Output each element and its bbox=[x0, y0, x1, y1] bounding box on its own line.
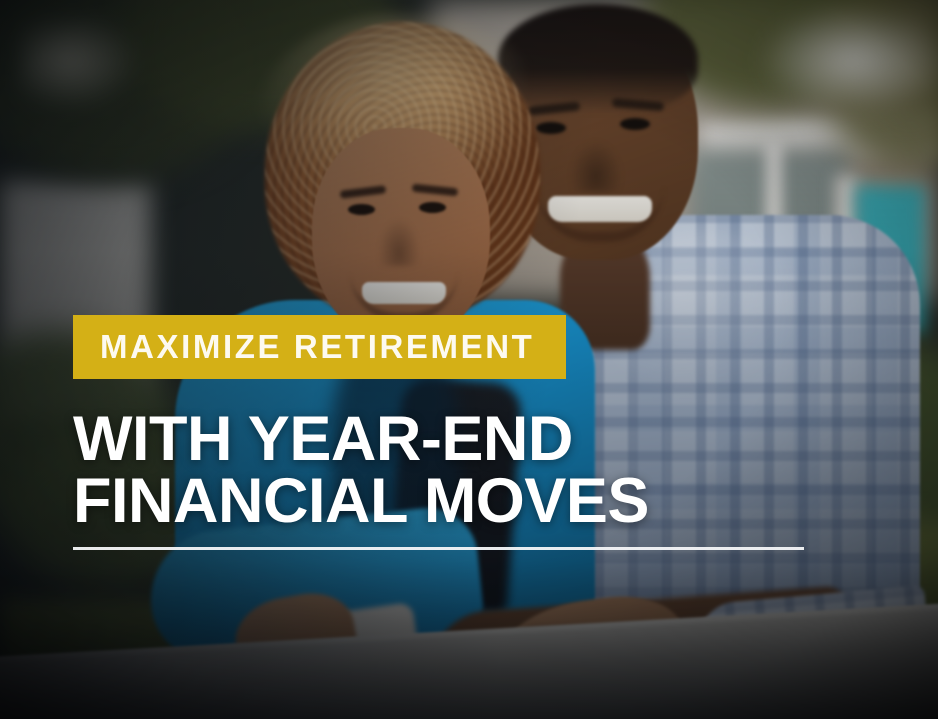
headline-line-2: FINANCIAL MOVES bbox=[73, 470, 865, 532]
page-title: WITH YEAR-END FINANCIAL MOVES bbox=[73, 408, 865, 532]
hero-banner: MAXIMIZE RETIREMENT WITH YEAR-END FINANC… bbox=[0, 0, 938, 719]
headline-divider bbox=[73, 547, 804, 550]
headline-line-1: WITH YEAR-END bbox=[73, 408, 865, 470]
eyebrow-banner: MAXIMIZE RETIREMENT bbox=[73, 315, 566, 379]
hero-content: MAXIMIZE RETIREMENT WITH YEAR-END FINANC… bbox=[73, 315, 865, 550]
eyebrow-label: MAXIMIZE RETIREMENT bbox=[100, 330, 534, 363]
